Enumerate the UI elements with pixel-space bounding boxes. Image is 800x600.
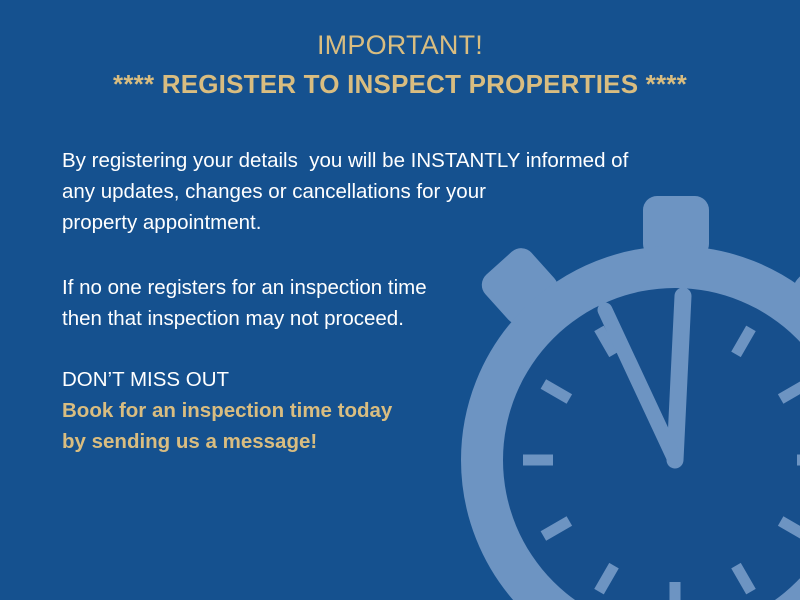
paragraph1-line3: property appointment. — [62, 207, 722, 238]
cta-dont-miss-out: DON’T MISS OUT — [62, 364, 502, 395]
paragraph1-line2: any updates, changes or cancellations fo… — [62, 176, 722, 207]
paragraph1-line1: By registering your details you will be … — [62, 145, 722, 176]
call-to-action-block: DON’T MISS OUT Book for an inspection ti… — [62, 364, 502, 457]
paragraph2-line1: If no one registers for an inspection ti… — [62, 272, 542, 303]
promotional-slide: IMPORTANT! **** REGISTER TO INSPECT PROP… — [0, 0, 800, 600]
paragraph-no-registration-warning: If no one registers for an inspection ti… — [62, 272, 542, 334]
cta-book-inspection: Book for an inspection time today — [62, 395, 502, 426]
headline-block: IMPORTANT! **** REGISTER TO INSPECT PROP… — [0, 28, 800, 102]
headline-register: **** REGISTER TO INSPECT PROPERTIES **** — [0, 66, 800, 102]
cta-send-message: by sending us a message! — [62, 426, 502, 457]
paragraph-registering-benefits: By registering your details you will be … — [62, 145, 722, 238]
paragraph2-line2: then that inspection may not proceed. — [62, 303, 542, 334]
headline-important: IMPORTANT! — [0, 28, 800, 62]
